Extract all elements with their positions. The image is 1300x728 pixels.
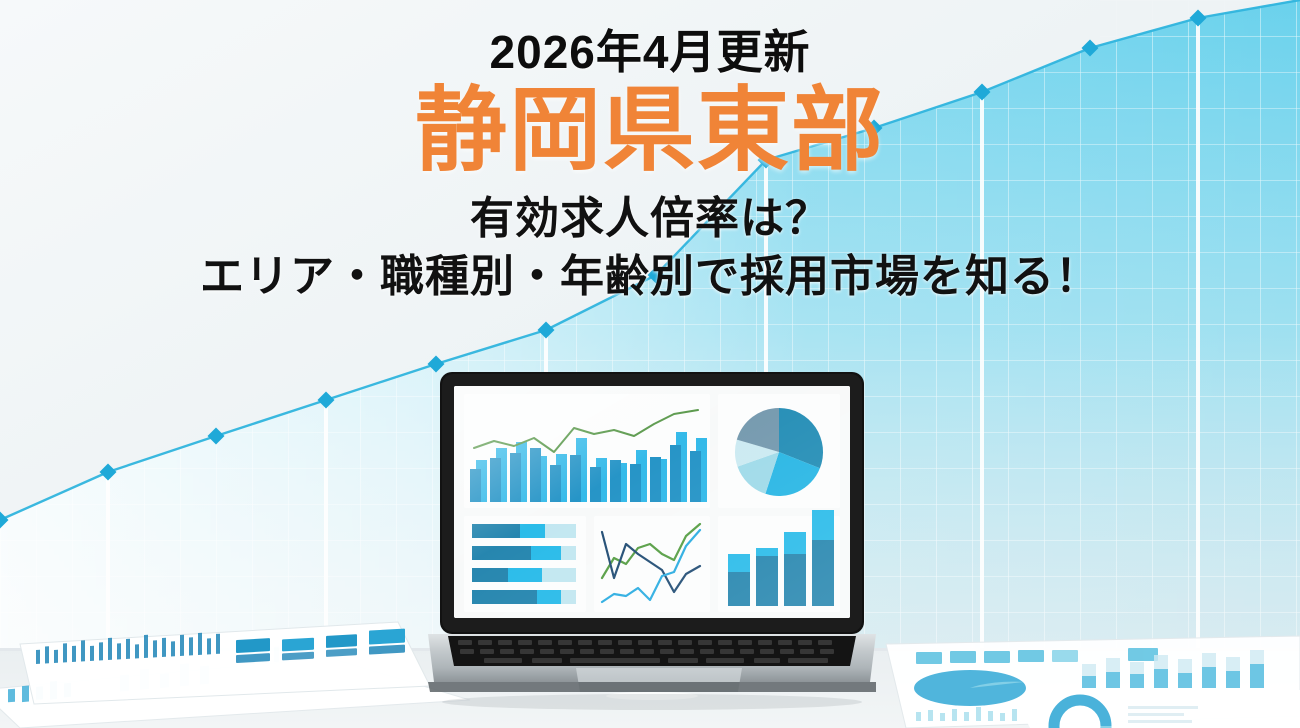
laptop-device bbox=[424, 366, 880, 728]
dashboard-content bbox=[454, 386, 850, 618]
laptop-shadow bbox=[442, 694, 862, 710]
laptop-front-edge bbox=[428, 682, 876, 692]
hero-banner: 2026年4月更新 静岡県東部 有効求人倍率は？ エリア・職種別・年齢別で採用市… bbox=[0, 0, 1300, 728]
